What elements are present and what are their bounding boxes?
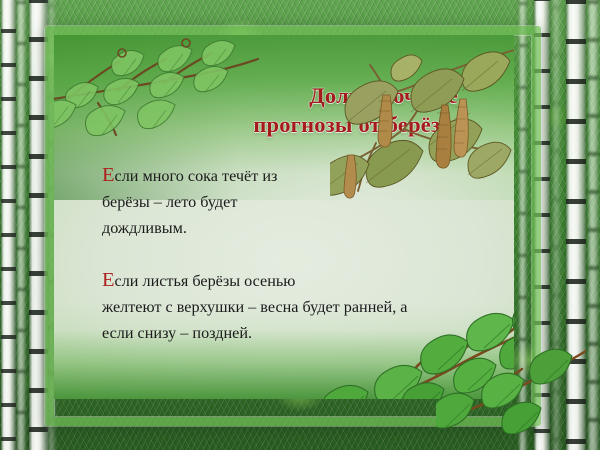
- forecast-paragraph-2: Если листья берёзы осенью желтеют с верх…: [102, 268, 502, 347]
- birch-trunk: [566, 0, 586, 450]
- content-panel: Долгосрочные прогнозы от берёзы Если мно…: [54, 35, 514, 399]
- body-text-block: Если много сока течёт из берёзы – лето б…: [102, 163, 502, 346]
- paragraph-text: сли много сока течёт из берёзы – лето бу…: [102, 167, 277, 237]
- birch-trunk: [17, 0, 26, 450]
- page-title: Долгосрочные прогнозы от берёзы: [54, 81, 500, 140]
- birch-trunk: [1, 0, 16, 450]
- dropcap-letter: Е: [102, 269, 115, 291]
- forecast-paragraph-1: Если много сока течёт из берёзы – лето б…: [102, 163, 502, 242]
- birch-trunk: [553, 0, 560, 450]
- leaf-branch-top-left-icon: [54, 35, 261, 151]
- birch-trunk: [588, 0, 599, 450]
- slide-canvas: Долгосрочные прогнозы от берёзы Если мно…: [0, 0, 600, 450]
- paragraph-text: сли листья берёзы осенью желтеют с верху…: [102, 272, 407, 342]
- dropcap-letter: Е: [102, 164, 115, 186]
